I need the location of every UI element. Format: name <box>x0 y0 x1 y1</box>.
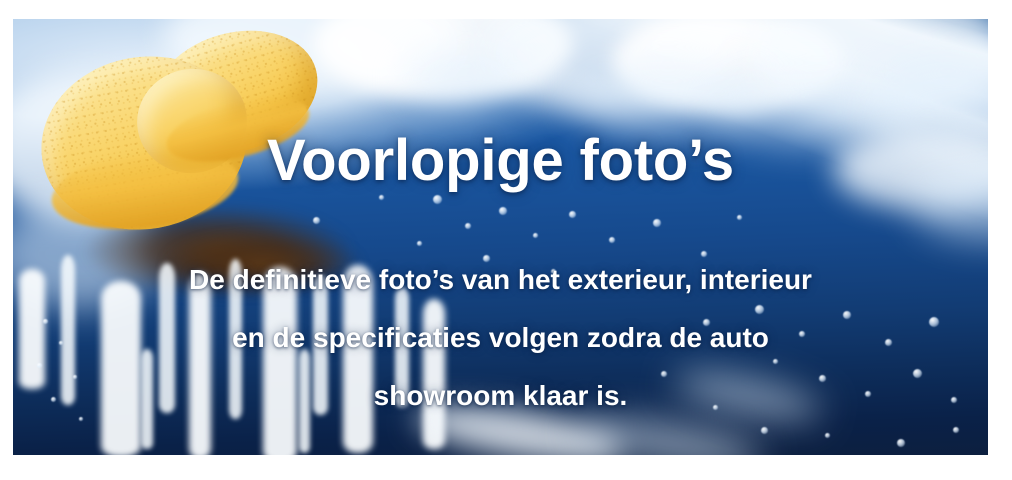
banner-headline: Voorlopige foto’s <box>13 132 988 190</box>
promo-banner: Voorlopige foto’s De definitieve foto’s … <box>0 0 1012 480</box>
banner-photo: Voorlopige foto’s De definitieve foto’s … <box>13 19 988 455</box>
banner-text-overlay: Voorlopige foto’s De definitieve foto’s … <box>13 19 988 455</box>
banner-subtitle-line: showroom klaar is. <box>13 367 988 425</box>
banner-subtitle-line: en de specificaties volgen zodra de auto <box>13 309 988 367</box>
banner-subtitle: De definitieve foto’s van het exterieur,… <box>13 251 988 425</box>
banner-subtitle-line: De definitieve foto’s van het exterieur,… <box>13 251 988 309</box>
